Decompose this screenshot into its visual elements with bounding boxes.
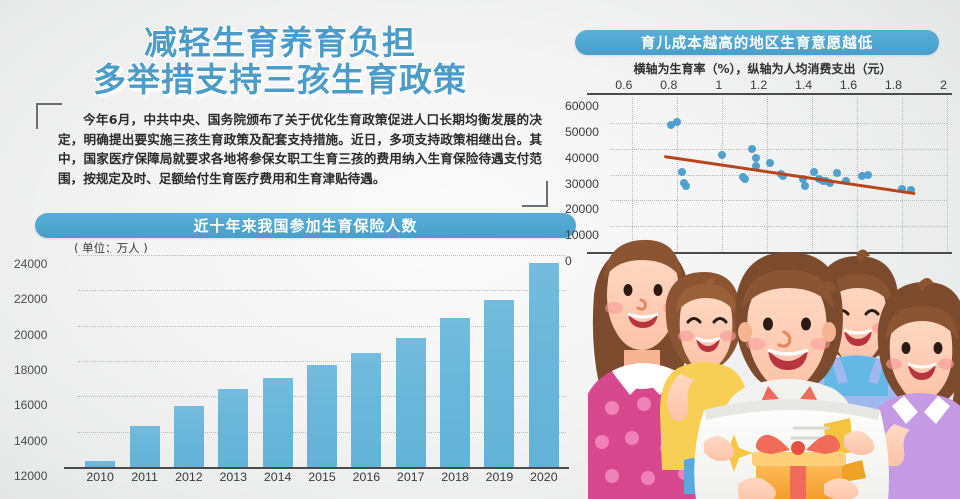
bar-chart-bar [396, 338, 426, 467]
scatter-point [682, 182, 690, 190]
bar-chart-y-tick-label: 18000 [14, 363, 72, 377]
bar-chart-bar [440, 318, 470, 467]
scatter-chart-title: 育儿成本越高的地区生育意愿越低 [641, 32, 874, 53]
scatter-horizontal-gridline [610, 200, 947, 201]
bar-chart-x-tick-label: 2015 [300, 470, 344, 484]
page-title-line1: 减轻生育养育负担 [0, 26, 560, 61]
bar-chart-unit-label: ( 单位：万人 ) [74, 240, 148, 256]
bar-chart-title: 近十年来我国参加生育保险人数 [193, 215, 417, 236]
bar-chart-y-tick-label: 22000 [14, 292, 72, 306]
bar-chart: ( 单位：万人 ) 120001400016000180002000022000… [14, 240, 580, 495]
bar-chart-x-tick-label: 2013 [211, 470, 255, 484]
scatter-y-tick-label: 40000 [565, 151, 609, 165]
scatter-point [864, 171, 872, 179]
scatter-point [678, 168, 686, 176]
scatter-point [833, 169, 841, 177]
bar-chart-bar [85, 461, 115, 467]
scatter-x-tick-label: 1.6 [817, 78, 857, 92]
bar-chart-x-tick-label: 2019 [477, 470, 521, 484]
bar-chart-bar [130, 426, 160, 467]
scatter-x-tick-label: 1 [682, 78, 722, 92]
scatter-point [718, 151, 726, 159]
bar-chart-bar [174, 406, 204, 467]
bar-chart-x-tick-label: 2018 [433, 470, 477, 484]
scatter-x-tick-label: 1.4 [772, 78, 812, 92]
page-title: 减轻生育养育负担 多举措支持三孩生育政策 [0, 26, 560, 98]
bar-chart-x-tick-label: 2014 [256, 470, 300, 484]
lead-paragraph: 今年6月，中共中央、国务院颁布了关于优化生育政策促进人口长期均衡发展的决定，明确… [58, 110, 542, 188]
scatter-y-tick-label: 60000 [565, 99, 609, 113]
bar-chart-bar [263, 378, 293, 467]
scatter-x-tick-label: 1.2 [727, 78, 767, 92]
scatter-y-tick-label: 30000 [565, 177, 609, 191]
bar-chart-x-tick-label: 2017 [389, 470, 433, 484]
bar-chart-bar [529, 263, 559, 467]
bar-chart-x-tick-label: 2020 [522, 470, 566, 484]
scatter-horizontal-gridline [610, 123, 947, 124]
bar-chart-x-tick-label: 2011 [123, 470, 167, 484]
scatter-chart-title-banner: 育儿成本越高的地区生育意愿越低 [575, 30, 939, 55]
scatter-point [748, 145, 756, 153]
bar-chart-bar [351, 353, 381, 467]
bar-chart-bar [307, 365, 337, 467]
family-of-five-illustration-icon [588, 228, 960, 499]
bar-chart-bar [218, 389, 248, 467]
scatter-horizontal-gridline [610, 149, 947, 150]
bar-chart-title-banner: 近十年来我国参加生育保险人数 [35, 213, 576, 238]
bar-chart-x-tick-label: 2010 [78, 470, 122, 484]
bar-chart-y-tick-label: 24000 [14, 257, 72, 271]
scatter-point [766, 159, 774, 167]
scatter-y-tick-label: 20000 [565, 202, 609, 216]
scatter-x-tick-label: 1.8 [862, 78, 902, 92]
scatter-horizontal-gridline [610, 226, 947, 227]
bar-chart-y-tick-label: 12000 [14, 469, 72, 483]
scatter-point [741, 175, 749, 183]
bar-chart-y-tick-label: 20000 [14, 328, 72, 342]
page-title-line2: 多举措支持三孩生育政策 [0, 63, 560, 98]
bar-chart-y-tick-label: 16000 [14, 398, 72, 412]
scatter-x-tick-label: 2 [907, 78, 947, 92]
infographic-page: 减轻生育养育负担 多举措支持三孩生育政策 今年6月，中共中央、国务院颁布了关于优… [0, 0, 960, 499]
scatter-x-tick-label: 0.6 [592, 78, 632, 92]
bar-chart-y-tick-label: 14000 [14, 434, 72, 448]
bar-chart-x-tick-label: 2012 [167, 470, 211, 484]
scatter-y-tick-label: 50000 [565, 125, 609, 139]
family-illustration [588, 228, 960, 499]
bar-chart-bar [484, 300, 514, 467]
lead-block: 今年6月，中共中央、国务院颁布了关于优化生育政策促进人口长期均衡发展的决定，明确… [36, 103, 556, 205]
bar-chart-x-tick-label: 2016 [344, 470, 388, 484]
scatter-top-axis-line [587, 93, 952, 95]
scatter-x-tick-label: 0.8 [637, 78, 677, 92]
bar-chart-x-axis-line [64, 467, 569, 469]
bar-chart-plot-area [78, 255, 566, 467]
scatter-chart-subtitle: 横轴为生育率（%），纵轴为人均消费支出（元） [565, 60, 960, 77]
scatter-point [673, 118, 681, 126]
scatter-point [801, 182, 809, 190]
